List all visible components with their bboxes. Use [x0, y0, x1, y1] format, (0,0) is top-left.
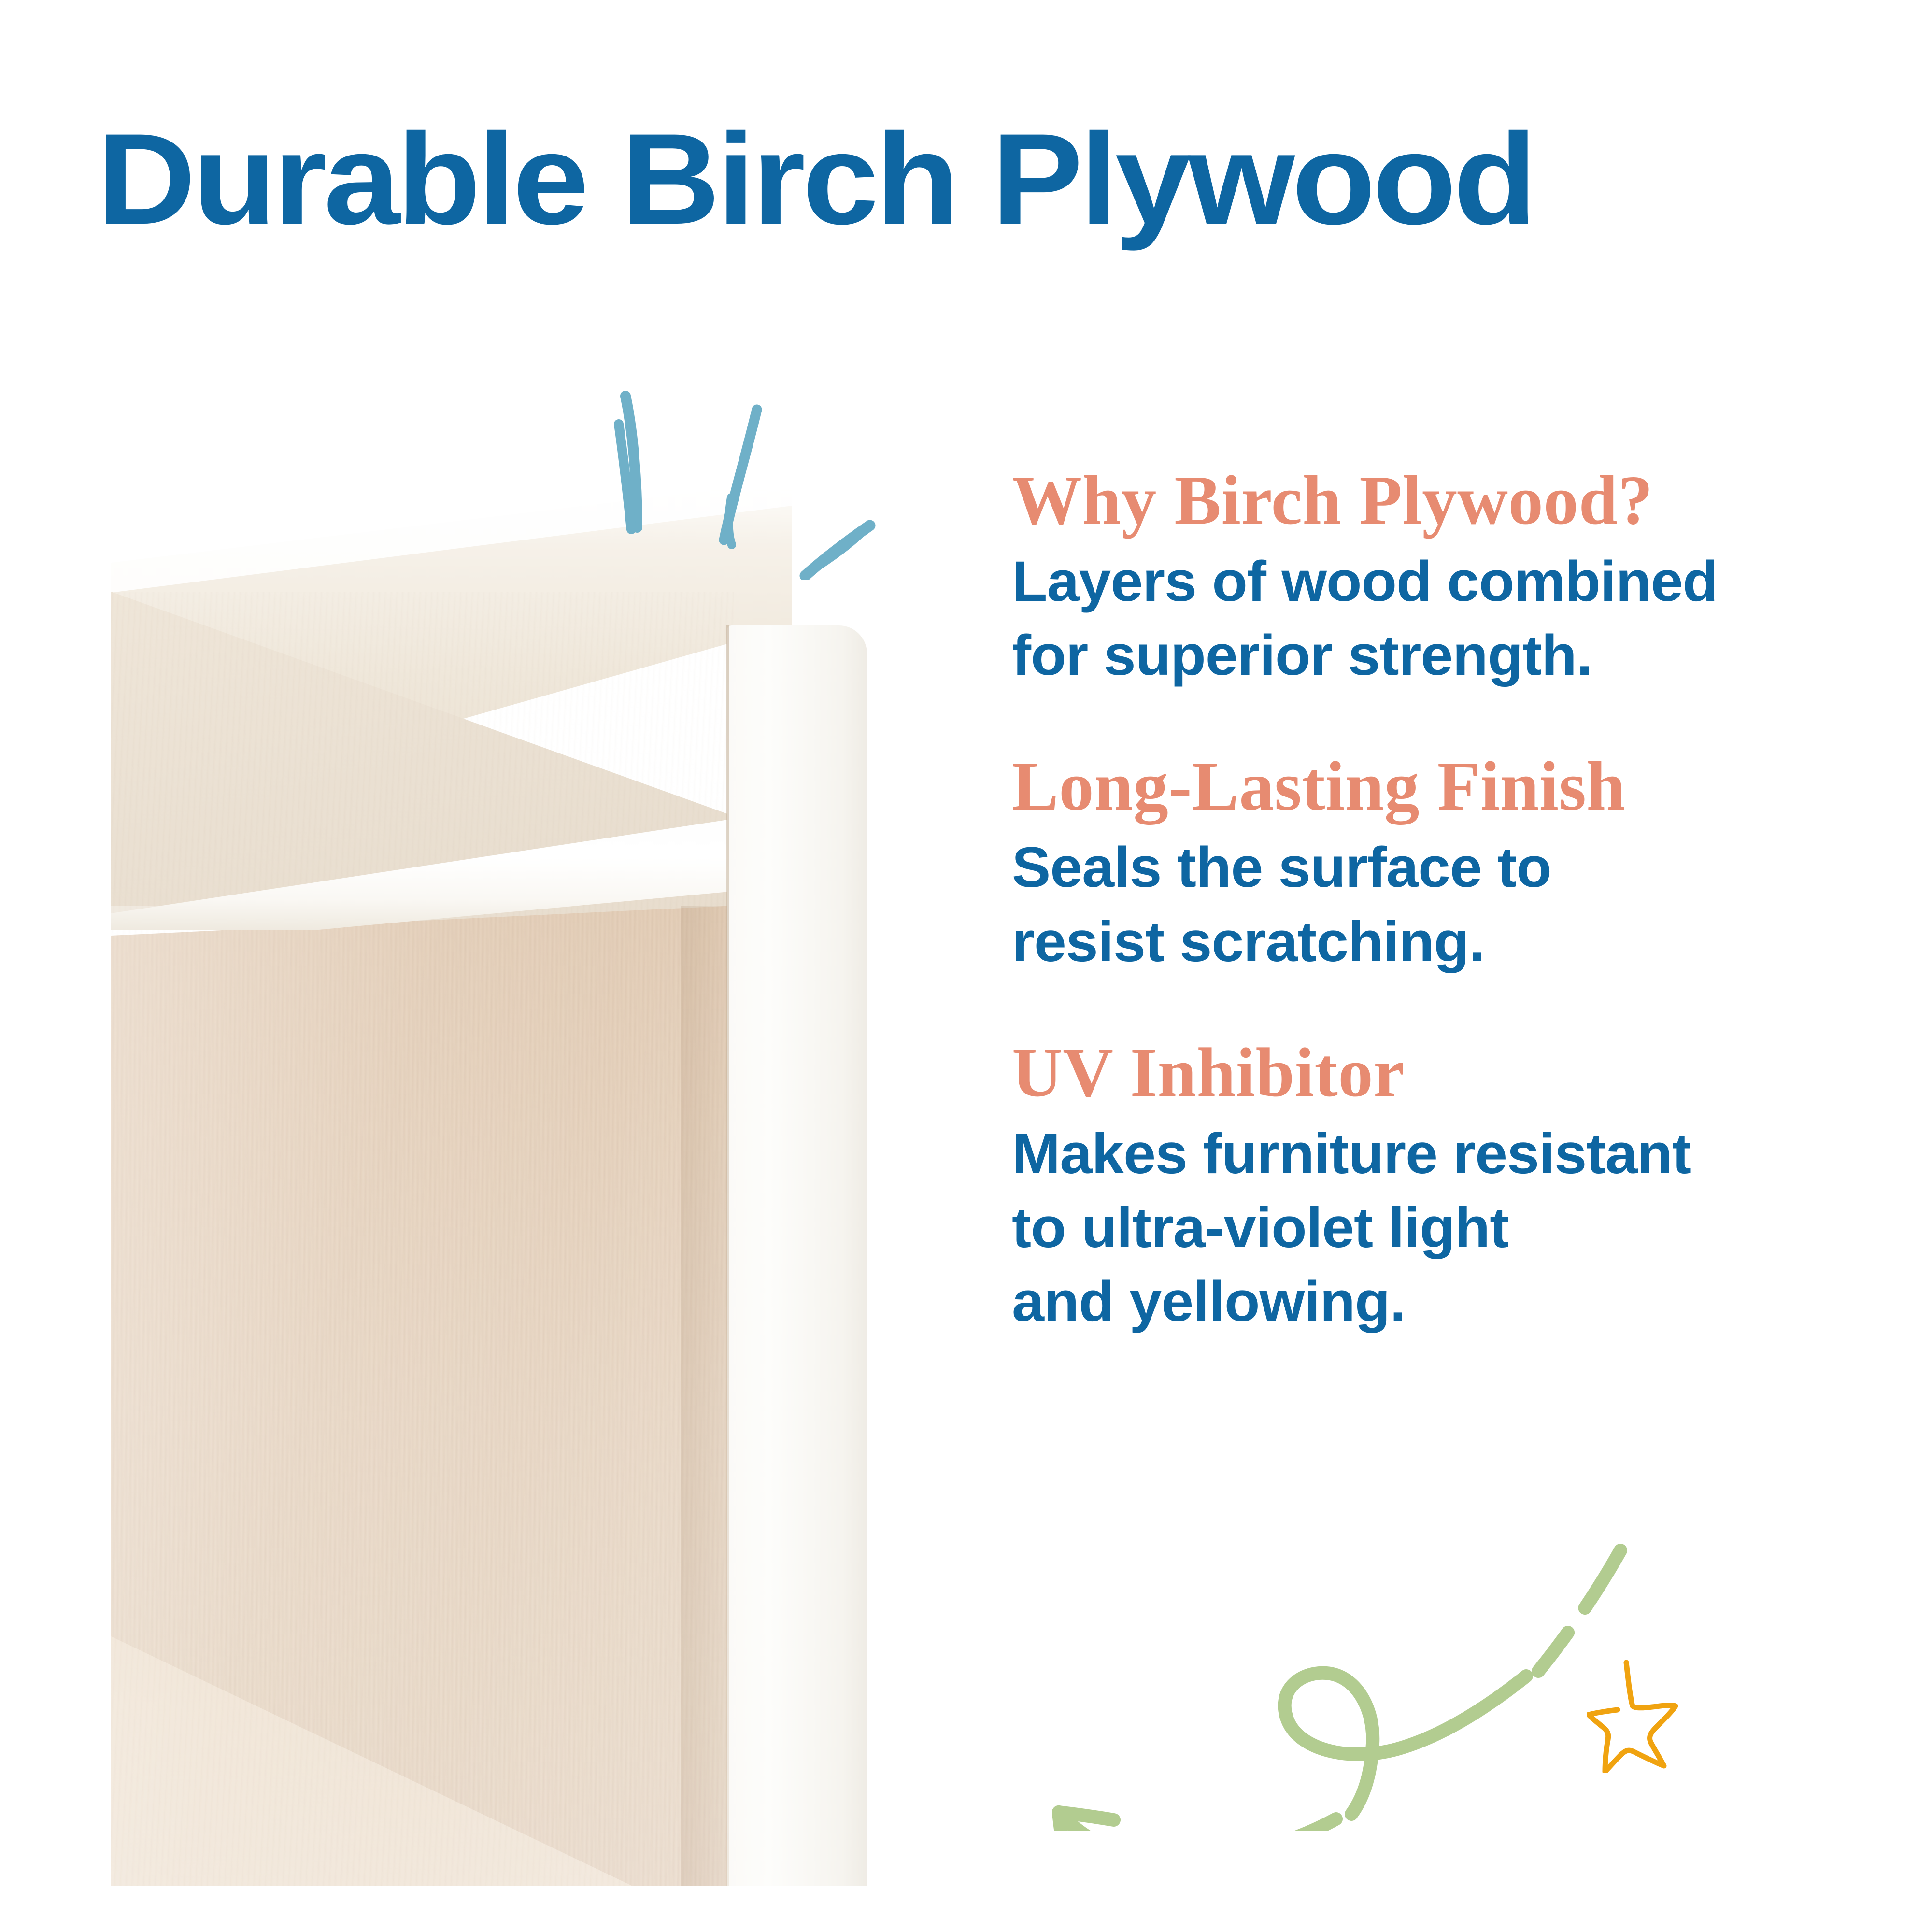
page-title: Durable Birch Plywood: [97, 114, 1932, 243]
feature-body-line: for superior strength.: [1012, 619, 1879, 693]
feature-body: Layers of wood combined for superior str…: [1012, 545, 1879, 693]
feature-body-line: to ultra-violet light: [1012, 1191, 1879, 1265]
product-photo: [39, 481, 867, 1886]
photo-surface-sheen: [111, 906, 734, 1886]
feature-body-line: Seals the surface to: [1012, 831, 1879, 905]
feature-body-line: resist scratching.: [1012, 905, 1879, 979]
photo-side-panel: [727, 625, 867, 1886]
feature-item-long-lasting-finish: Long-Lasting Finish Seals the surface to…: [1012, 750, 1862, 979]
feature-item-uv-inhibitor: UV Inhibitor Makes furniture resistant t…: [1012, 1036, 1862, 1339]
feature-body-line: and yellowing.: [1012, 1265, 1879, 1339]
feature-body: Makes furniture resistant to ultra-viole…: [1012, 1117, 1879, 1339]
feature-list: Why Birch Plywood? Layers of wood combin…: [1012, 464, 1862, 1339]
feature-item-why-birch-plywood: Why Birch Plywood? Layers of wood combin…: [1012, 464, 1862, 693]
feature-heading: Long-Lasting Finish: [1012, 750, 1862, 824]
infographic-canvas: Durable Birch Plywood Why Birch Plywood?…: [0, 0, 1932, 1932]
hand-drawn-star-icon: [1587, 1652, 1698, 1773]
sparkle-strokes-icon: [587, 386, 925, 580]
feature-body: Seals the surface to resist scratching.: [1012, 831, 1879, 979]
feature-body-line: Makes furniture resistant: [1012, 1117, 1879, 1191]
dashed-loop-arrow-icon: [1029, 1531, 1637, 1831]
photo-panel-seam: [726, 625, 729, 1886]
feature-heading: UV Inhibitor: [1012, 1036, 1862, 1110]
feature-heading: Why Birch Plywood?: [1012, 464, 1862, 538]
feature-body-line: Layers of wood combined: [1012, 545, 1879, 619]
